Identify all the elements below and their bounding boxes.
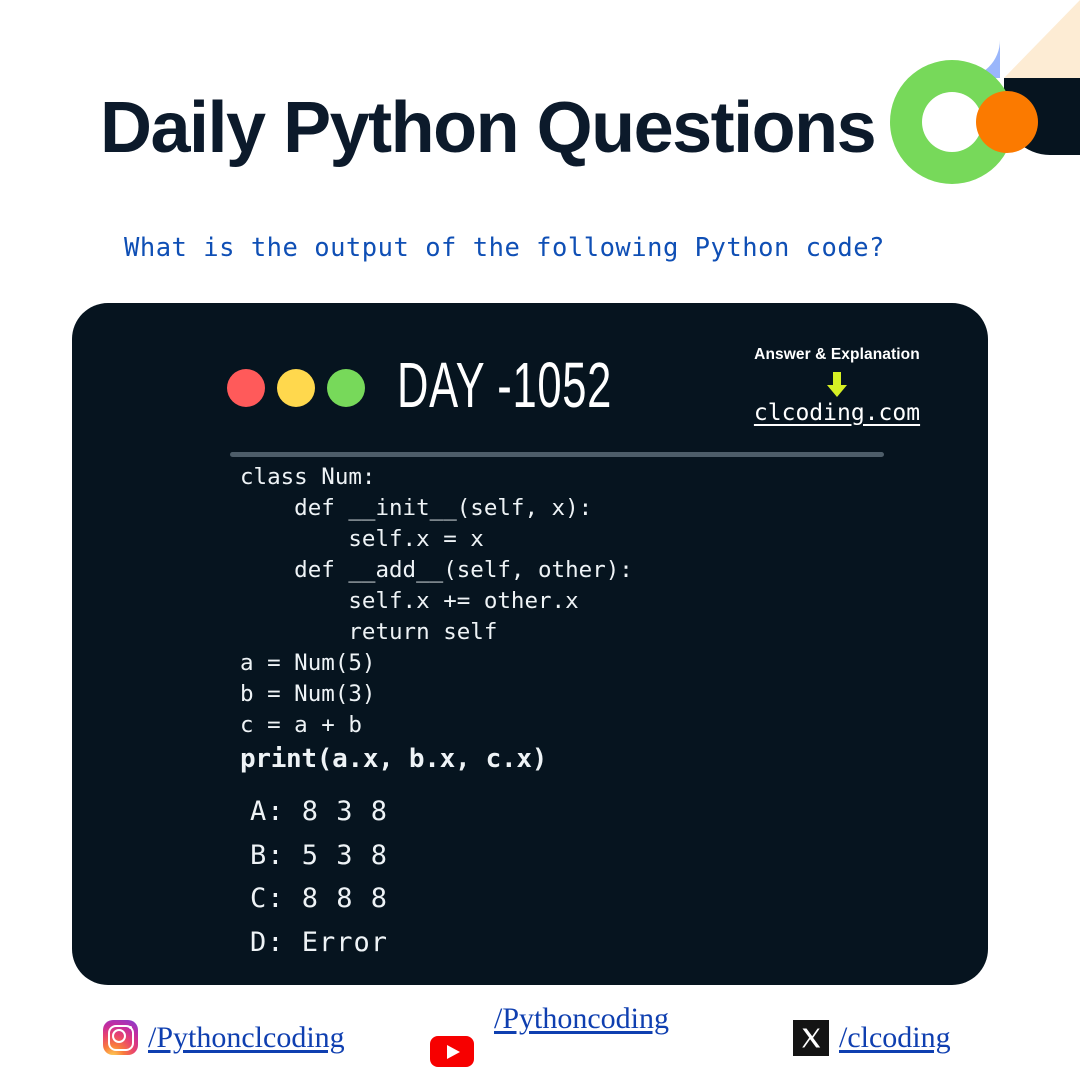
code-line: class Num:	[240, 462, 968, 493]
down-arrow-icon	[712, 372, 962, 398]
social-link-youtube[interactable]: /Pythoncoding	[430, 1002, 669, 1067]
social-link-x[interactable]: /clcoding	[793, 1020, 951, 1056]
corner-decoration	[890, 0, 1080, 200]
youtube-icon	[430, 1036, 474, 1067]
code-line: c = a + b	[240, 710, 968, 741]
option-a[interactable]: A: 8 3 8	[250, 790, 968, 834]
code-line: self.x = x	[240, 524, 968, 555]
x-twitter-icon	[793, 1020, 829, 1056]
cream-triangle-shape	[1004, 0, 1080, 78]
code-line: a = Num(5)	[240, 648, 968, 679]
answer-options: A: 8 3 8 B: 5 3 8 C: 8 8 8 D: Error	[250, 790, 968, 964]
page-title: Daily Python Questions	[100, 92, 875, 164]
answer-link[interactable]: clcoding.com	[712, 401, 962, 426]
option-b[interactable]: B: 5 3 8	[250, 834, 968, 878]
blue-pin-shape	[924, 2, 1000, 78]
youtube-handle[interactable]: /Pythoncoding	[494, 1002, 669, 1036]
option-c[interactable]: C: 8 8 8	[250, 877, 968, 921]
code-line: def __add__(self, other):	[240, 555, 968, 586]
footer: /Pythonclcoding /Pythoncoding /clcoding	[0, 990, 1080, 1080]
terminal-titlebar: DAY -1052 Answer & Explanation clcoding.…	[72, 303, 988, 452]
day-counter: DAY -1052	[397, 353, 612, 417]
minimize-dot[interactable]	[277, 369, 315, 407]
answer-caption: Answer & Explanation	[712, 347, 962, 363]
x-handle[interactable]: /clcoding	[839, 1021, 951, 1055]
code-block: class Num: def __init__(self, x): self.x…	[240, 462, 968, 778]
orange-circle-shape	[976, 91, 1038, 153]
maximize-dot[interactable]	[327, 369, 365, 407]
code-line: b = Num(3)	[240, 679, 968, 710]
window-controls	[227, 369, 365, 407]
code-line: def __init__(self, x):	[240, 493, 968, 524]
code-card: DAY -1052 Answer & Explanation clcoding.…	[72, 303, 988, 985]
social-link-instagram[interactable]: /Pythonclcoding	[103, 1020, 345, 1055]
close-dot[interactable]	[227, 369, 265, 407]
green-donut-hole	[922, 92, 982, 152]
answer-explanation-block: Answer & Explanation clcoding.com	[712, 347, 962, 426]
blue-pin-hole	[944, 22, 980, 58]
green-donut-shape	[890, 60, 1014, 184]
titlebar-divider	[230, 452, 884, 457]
code-line: return self	[240, 617, 968, 648]
code-line: self.x += other.x	[240, 586, 968, 617]
instagram-handle[interactable]: /Pythonclcoding	[148, 1021, 345, 1055]
instagram-icon	[103, 1020, 138, 1055]
option-d[interactable]: D: Error	[250, 921, 968, 965]
code-line-print: print(a.x, b.x, c.x)	[240, 741, 968, 778]
navy-quarter-shape	[1004, 78, 1080, 155]
question-prompt: What is the output of the following Pyth…	[124, 233, 885, 263]
